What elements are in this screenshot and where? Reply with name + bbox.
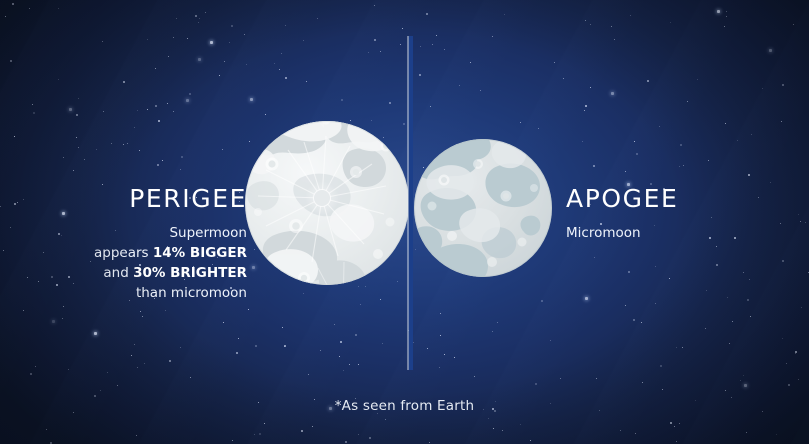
perigee-sub-line-2: appears 14% BIGGER: [94, 243, 247, 263]
perigee-subtitle: Supermoon appears 14% BIGGER and 30% BRI…: [94, 223, 247, 303]
supermoon-micromoon-infographic: PERIGEE Supermoon appears 14% BIGGER and…: [0, 0, 809, 444]
supermoon-disc: [245, 105, 409, 364]
perigee-sub-line-4: than micromoon: [94, 283, 247, 303]
apogee-sub-line-1: Micromoon: [566, 223, 678, 243]
perigee-label-block: PERIGEE Supermoon appears 14% BIGGER and…: [94, 186, 247, 303]
micromoon-disc: [408, 124, 552, 320]
perigee-title: PERIGEE: [94, 186, 247, 211]
perigee-sub-line-3: and 30% BRIGHTER: [94, 263, 247, 283]
center-divider: [409, 36, 414, 370]
perigee-sub-line-1: Supermoon: [94, 223, 247, 243]
footnote: *As seen from Earth: [0, 398, 809, 414]
apogee-label-block: APOGEE Micromoon: [566, 186, 678, 243]
apogee-title: APOGEE: [566, 186, 678, 211]
apogee-subtitle: Micromoon: [566, 223, 678, 243]
